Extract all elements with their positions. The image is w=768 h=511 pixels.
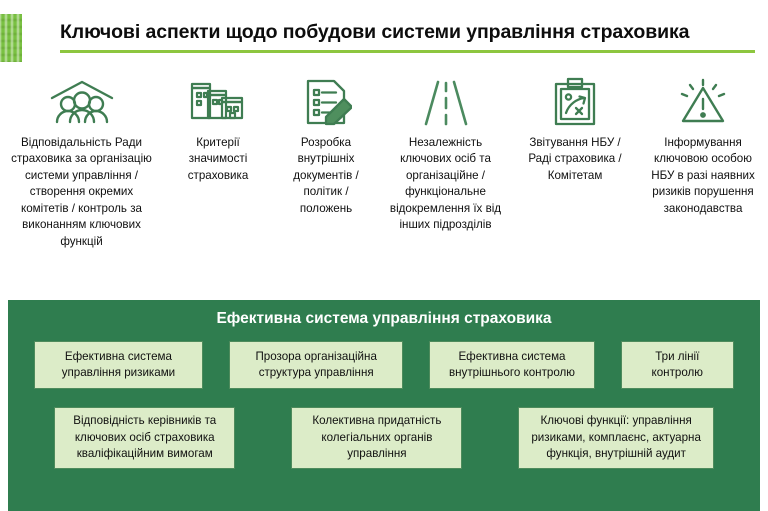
warning-triangle-icon — [673, 76, 733, 128]
feature-column-reporting: Звітування НБУ / Раді страховика / Коміт… — [512, 76, 638, 184]
feature-column-board-responsibility: Відповідальність Ради страховика за орга… — [0, 76, 163, 250]
road-divider-icon — [420, 76, 472, 128]
system-chip-row-1: Ефективна система управління ризиками Пр… — [8, 341, 760, 389]
buildings-icon — [188, 76, 248, 128]
company-logo — [0, 14, 22, 62]
clipboard-strategy-icon — [551, 76, 599, 128]
document-pencil-icon — [300, 76, 352, 128]
system-chip: Три лінії контролю — [621, 341, 734, 389]
feature-column-significance-criteria: Критерії значимості страховика — [163, 76, 273, 184]
title-block: Ключові аспекти щодо побудови системи уп… — [60, 22, 760, 53]
feature-columns: Відповідальність Ради страховика за орга… — [0, 76, 768, 250]
system-chip: Ключові функції: управління ризиками, ко… — [518, 407, 714, 469]
feature-label: Незалежність ключових осіб та організаці… — [385, 135, 506, 234]
system-chip: Ефективна система управління ризиками — [34, 341, 203, 389]
feature-label: Розробка внутрішніх документів / політик… — [279, 135, 373, 217]
system-chip-row-2: Відповідність керівників та ключових осі… — [8, 407, 760, 469]
feature-column-internal-documents: Розробка внутрішніх документів / політик… — [273, 76, 379, 217]
feature-label: Відповідальність Ради страховика за орга… — [6, 135, 157, 250]
page-title: Ключові аспекти щодо побудови системи уп… — [60, 22, 760, 43]
system-panel-title: Ефективна система управління страховика — [8, 310, 760, 328]
system-chip: Відповідність керівників та ключових осі… — [54, 407, 235, 469]
feature-label: Критерії значимості страховика — [169, 135, 267, 184]
system-chip: Ефективна система внутрішнього контролю — [429, 341, 594, 389]
system-chip: Колективна придатність колегіальних орга… — [291, 407, 462, 469]
effective-management-system-panel: Ефективна система управління страховика … — [8, 300, 760, 511]
feature-column-risk-notification: Інформування ключовою особою НБУ в разі … — [638, 76, 768, 217]
people-under-roof-icon — [46, 76, 118, 128]
feature-label: Інформування ключовою особою НБУ в разі … — [644, 135, 762, 217]
system-chip: Прозора організаційна структура управлін… — [229, 341, 404, 389]
feature-column-independence: Незалежність ключових осіб та організаці… — [379, 76, 512, 234]
title-underline — [60, 50, 755, 53]
feature-label: Звітування НБУ / Раді страховика / Коміт… — [518, 135, 632, 184]
